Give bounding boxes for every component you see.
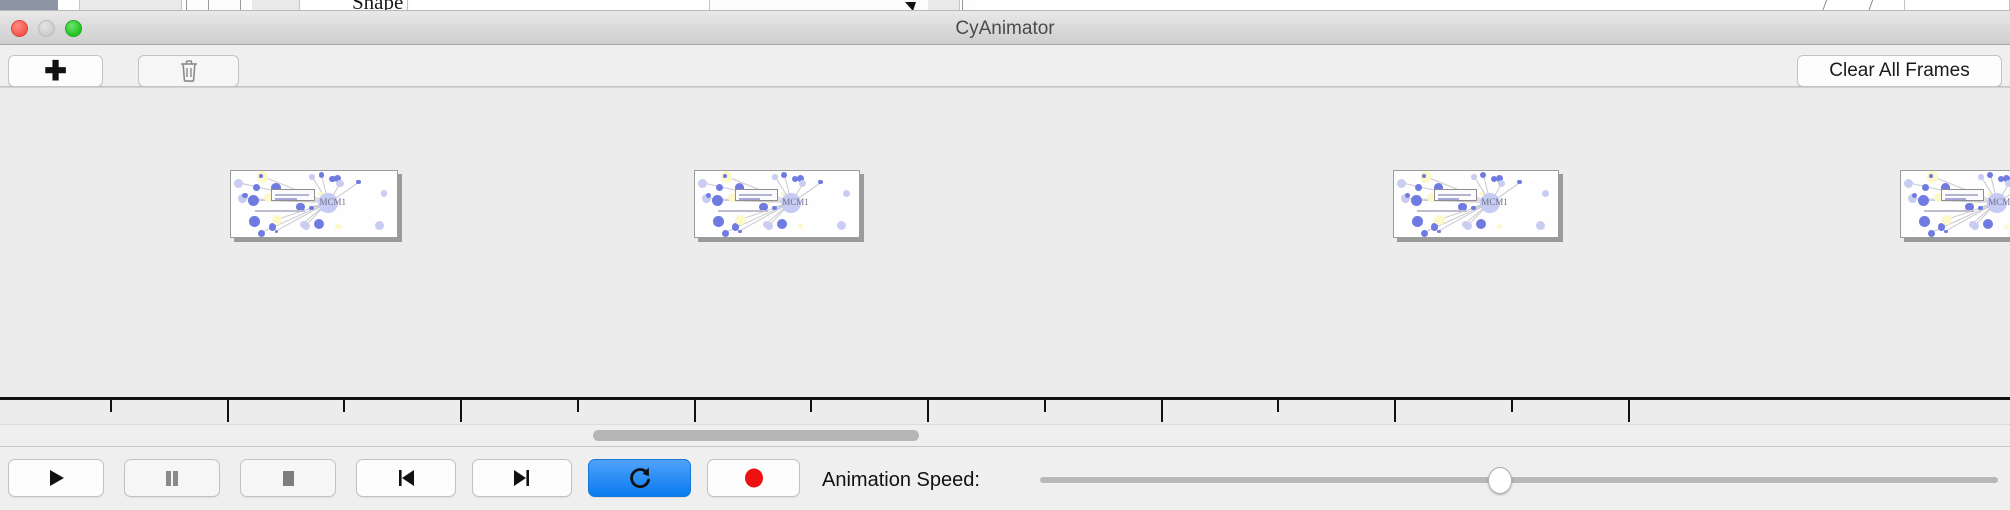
graph-node <box>381 190 388 197</box>
graph-node <box>1978 206 1982 210</box>
graph-node <box>1421 230 1428 237</box>
graph-node <box>765 222 773 230</box>
graph-node <box>253 184 260 191</box>
graph-node <box>1922 184 1929 191</box>
graph-node <box>275 230 278 233</box>
timeline-panel[interactable]: MCM1MCM1MCM1MCM1 12131415161718 Seconds <box>0 87 2010 424</box>
axis-tick-minor <box>810 400 812 412</box>
graph-node <box>1471 206 1475 210</box>
add-frame-button[interactable]: ✚ <box>8 55 103 87</box>
graph-node <box>335 224 340 229</box>
animation-speed-label: Animation Speed: <box>822 469 980 492</box>
graph-node <box>1491 176 1498 183</box>
graph-node <box>356 180 361 185</box>
graph-node <box>1928 230 1935 237</box>
frame-thumbnail[interactable]: MCM1 <box>230 170 398 238</box>
graph-node <box>1941 215 1951 225</box>
frame-thumbnail[interactable]: MCM1 <box>694 170 860 238</box>
graph-node <box>302 222 310 230</box>
graph-caption-text <box>718 210 768 212</box>
graph-node <box>329 176 336 183</box>
graph-node <box>843 190 850 197</box>
graph-node <box>1434 215 1444 225</box>
graph-node <box>248 195 259 206</box>
graph-node <box>698 179 707 188</box>
axis-tick-major <box>227 400 229 422</box>
axis-tick-minor <box>343 400 345 412</box>
plus-icon: ✚ <box>44 58 67 85</box>
frame-thumbnail[interactable]: MCM1 <box>1900 170 2010 238</box>
axis-tick-minor <box>577 400 579 412</box>
toolbar: ✚ Clear All Frames <box>0 45 2010 87</box>
axis-tick-major <box>460 400 462 422</box>
graph-hub-label: MCM1 <box>782 197 809 207</box>
graph-node <box>716 184 723 191</box>
graph-node <box>1412 216 1423 227</box>
graph-node <box>249 216 260 227</box>
animation-speed-slider-thumb[interactable] <box>1488 467 1512 494</box>
graph-node <box>772 174 778 180</box>
timeline-scrollbar[interactable] <box>0 424 2010 446</box>
graph-node <box>1411 195 1422 206</box>
graph-node <box>1542 190 1549 197</box>
graph-hub-label: MCM1 <box>1481 197 1508 207</box>
graph-node <box>234 179 243 188</box>
graph-node <box>1517 180 1522 185</box>
graph-node <box>309 174 315 180</box>
graph-node <box>242 193 247 198</box>
graph-node <box>735 215 745 225</box>
graph-node <box>314 219 324 229</box>
graph-node <box>1464 222 1472 230</box>
background-window-title: Shape <box>352 0 403 11</box>
graph-node <box>772 206 776 210</box>
graph-node <box>2005 180 2010 188</box>
next-frame-button[interactable] <box>472 459 572 497</box>
play-button[interactable] <box>8 459 104 497</box>
clear-all-frames-button[interactable]: Clear All Frames <box>1797 55 2002 87</box>
graph-node <box>818 180 823 185</box>
axis-tick-major <box>1161 400 1163 422</box>
graph-node <box>781 172 787 178</box>
graph-hub-label: MCM1 <box>319 197 346 207</box>
record-icon <box>742 466 766 490</box>
timeline-top-divider <box>0 87 2010 88</box>
graph-caption-text <box>1417 210 1467 212</box>
graph-node <box>777 219 787 229</box>
stop-icon <box>277 467 299 489</box>
play-icon <box>45 467 67 489</box>
graph-node <box>837 221 846 230</box>
graph-callout <box>1941 189 1984 201</box>
graph-node <box>1476 219 1486 229</box>
axis-tick-major <box>1628 400 1630 422</box>
graph-node <box>1998 176 2005 183</box>
graph-node <box>1919 216 1930 227</box>
pause-button[interactable] <box>124 459 220 497</box>
skip-forward-icon <box>510 467 534 489</box>
trash-icon <box>179 59 199 83</box>
graph-node <box>792 176 799 183</box>
graph-node <box>2004 224 2009 229</box>
graph-node <box>1918 195 1929 206</box>
graph-node <box>1944 230 1947 233</box>
delete-frame-button[interactable] <box>138 55 239 87</box>
frame-thumbnail[interactable]: MCM1 <box>1393 170 1559 238</box>
axis-tick-minor <box>1511 400 1513 412</box>
axis-tick-major <box>694 400 696 422</box>
graph-node <box>798 224 803 229</box>
graph-node <box>1437 230 1440 233</box>
cyanimator-window: Shape CyAnimator ✚ Clear <box>0 0 2010 510</box>
stop-button[interactable] <box>240 459 336 497</box>
graph-node <box>713 216 724 227</box>
timeline-axis-line <box>0 397 2010 400</box>
animation-speed-slider[interactable] <box>1040 477 1998 483</box>
graph-node <box>258 230 265 237</box>
background-window-strip: Shape <box>0 0 2010 11</box>
record-button[interactable] <box>707 459 800 497</box>
graph-node <box>1471 174 1477 180</box>
skip-back-icon <box>394 467 418 489</box>
graph-node <box>738 230 741 233</box>
axis-tick-minor <box>110 400 112 412</box>
window-title: CyAnimator <box>0 18 2010 40</box>
axis-tick-major <box>927 400 929 422</box>
graph-node <box>1978 174 1984 180</box>
timeline-scrollbar-thumb[interactable] <box>593 430 919 441</box>
graph-callout <box>1434 189 1477 201</box>
graph-callout <box>271 189 315 201</box>
graph-callout <box>735 189 778 201</box>
graph-node <box>1497 224 1502 229</box>
graph-node <box>799 180 807 188</box>
graph-node <box>319 172 325 178</box>
graph-node <box>1983 219 1993 229</box>
playback-control-bar: Animation Speed: <box>0 446 2010 510</box>
background-cursor-arrow <box>905 2 916 11</box>
axis-tick-minor <box>1277 400 1279 412</box>
pause-icon <box>161 467 183 489</box>
graph-caption-text <box>1924 210 1974 212</box>
axis-tick-minor <box>1044 400 1046 412</box>
graph-node <box>336 180 344 188</box>
graph-node <box>375 221 384 230</box>
graph-node <box>722 230 729 237</box>
axis-tick-major <box>1394 400 1396 422</box>
graph-hub-label: MCM1 <box>1988 197 2010 207</box>
graph-node <box>1415 184 1422 191</box>
graph-node <box>1904 179 1913 188</box>
graph-node <box>1498 180 1506 188</box>
title-bar: CyAnimator <box>0 11 2010 45</box>
graph-node <box>1397 179 1406 188</box>
graph-node <box>1987 172 1993 178</box>
graph-node <box>1536 221 1545 230</box>
loop-button[interactable] <box>588 459 691 497</box>
graph-node <box>1480 172 1486 178</box>
graph-node <box>1971 222 1979 230</box>
graph-node <box>712 195 723 206</box>
graph-node <box>309 206 313 210</box>
previous-frame-button[interactable] <box>356 459 456 497</box>
loop-icon <box>627 465 653 491</box>
graph-caption-text <box>255 210 305 212</box>
